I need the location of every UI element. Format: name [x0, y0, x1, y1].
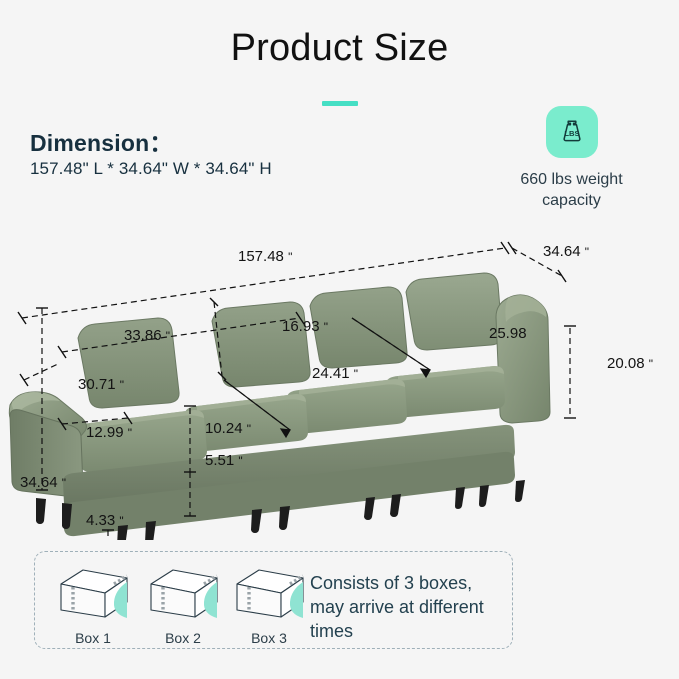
measure-back-cushion-width: 33.86 "	[124, 327, 170, 344]
shipping-box-icon	[229, 566, 309, 622]
packaging-note-line2: may arrive at different	[310, 597, 484, 617]
infographic-root: Product Size Dimension： 157.48" L * 34.6…	[0, 0, 679, 679]
measure-arm-width: 12.99 "	[86, 424, 132, 441]
dimension-value: 157.48" L * 34.64" W * 34.64" H	[30, 159, 272, 179]
measure-leg-height: 4.33 "	[86, 512, 124, 529]
package-box-1: Box 1	[47, 566, 139, 646]
page-title: Product Size	[0, 27, 679, 70]
back-cushion-2	[212, 302, 310, 387]
weight-caption-line1: 660 lbs weight	[520, 171, 622, 188]
measure-overall-length: 157.48 "	[238, 248, 292, 265]
package-box-2: Box 2	[137, 566, 229, 646]
shipping-box-icon	[53, 566, 133, 622]
box-label: Box 3	[223, 630, 315, 646]
weight-caption-line2: capacity	[542, 192, 601, 209]
weight-badge: LBS	[546, 106, 598, 158]
packaging-note: Consists of 3 boxes, may arrive at diffe…	[310, 571, 525, 643]
sofa-illustration: 157.48 " 34.64 " 33.86 " 16.93 " 24.41 "…	[0, 230, 679, 540]
measure-seat-depth: 24.41 "	[312, 365, 358, 382]
measure-seat-cushion-depth: 25.98	[489, 325, 527, 342]
measure-seat-thickness: 5.51 "	[205, 452, 243, 469]
box-label: Box 2	[137, 630, 229, 646]
measure-back-cushion-height: 16.93 "	[282, 318, 328, 335]
measure-overall-height: 34.64 "	[20, 474, 66, 491]
packaging-note-line3: times	[310, 621, 353, 641]
measure-arm-depth: 30.71 "	[78, 376, 124, 393]
box-label: Box 1	[47, 630, 139, 646]
measure-seat-height: 20.08 "	[607, 355, 653, 372]
weight-capacity-block: LBS 660 lbs weight capacity	[494, 106, 649, 211]
measure-overall-depth: 34.64 "	[543, 243, 589, 260]
packaging-note-line1: Consists of 3 boxes,	[310, 573, 472, 593]
shipping-box-icon	[143, 566, 223, 622]
package-box-3: Box 3	[223, 566, 315, 646]
title-underline-accent	[322, 101, 358, 106]
dimension-label: Dimension：	[30, 124, 173, 158]
back-cushion-4	[406, 273, 502, 350]
weight-capacity-caption: 660 lbs weight capacity	[494, 169, 649, 211]
measure-arm-height: 10.24 "	[205, 420, 251, 437]
weight-lbs-icon: LBS	[555, 115, 589, 149]
sofa-body	[9, 273, 550, 540]
svg-text:LBS: LBS	[564, 129, 579, 138]
